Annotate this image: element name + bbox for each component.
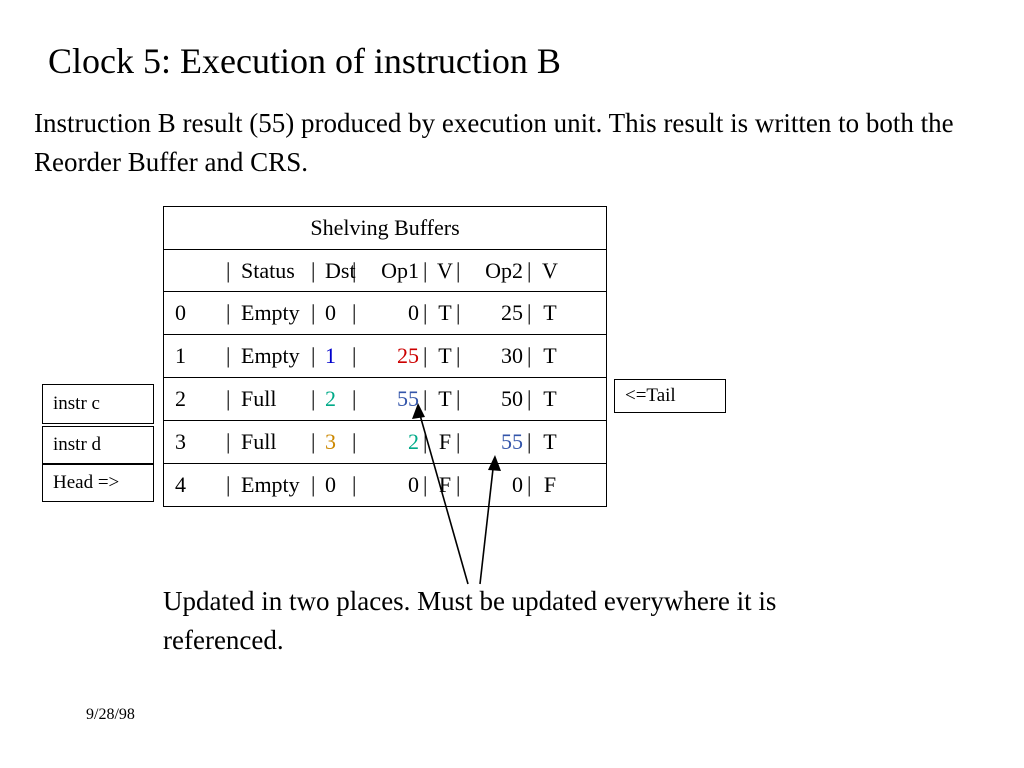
table-row: 2 | Full | 2 | 55 | T | 50 | T bbox=[164, 378, 607, 421]
row-v1: T bbox=[434, 343, 456, 369]
row-bar-2: | bbox=[352, 343, 363, 369]
row-status: Empty bbox=[237, 300, 311, 326]
row-v1: F bbox=[434, 429, 456, 455]
header-bar-4: | bbox=[456, 258, 467, 284]
page-title: Clock 5: Execution of instruction B bbox=[48, 42, 561, 82]
header-bar-1: | bbox=[311, 258, 322, 284]
row-bar-4: | bbox=[456, 300, 467, 326]
row-index: 3 bbox=[164, 429, 226, 455]
row-op1: 0 bbox=[363, 472, 423, 498]
row-bar-5: | bbox=[527, 343, 538, 369]
row-bar-4: | bbox=[456, 472, 467, 498]
row-bar-0: | bbox=[226, 343, 237, 369]
row-bar-3: | bbox=[423, 429, 434, 455]
table-row: 3 | Full | 3 | 2 | F | 55 | T bbox=[164, 421, 607, 464]
row-bar-2: | bbox=[352, 386, 363, 412]
row-op2: 25 bbox=[467, 300, 527, 326]
header-v2: V bbox=[538, 258, 562, 284]
table-row: 0 | Empty | 0 | 0 | T | 25 | T bbox=[164, 292, 607, 335]
instr-c-box: instr c bbox=[42, 384, 154, 424]
header-bar-0: | bbox=[226, 258, 237, 284]
row-bar-2: | bbox=[352, 300, 363, 326]
subtitle-text: Instruction B result (55) produced by ex… bbox=[34, 104, 964, 182]
instr-d-box: instr d bbox=[42, 426, 154, 464]
row-dst: 0 bbox=[322, 300, 352, 326]
header-dst: Dst bbox=[322, 258, 352, 284]
row-dst: 2 bbox=[322, 386, 352, 412]
row-bar-0: | bbox=[226, 300, 237, 326]
slide-root: Clock 5: Execution of instruction B Inst… bbox=[0, 0, 1024, 768]
row-status: Full bbox=[237, 429, 311, 455]
row-op1: 2 bbox=[363, 429, 423, 455]
row-bar-3: | bbox=[423, 472, 434, 498]
row-bar-1: | bbox=[311, 343, 322, 369]
row-bar-2: | bbox=[352, 429, 363, 455]
table-header-row: | Status | Dst | Op1 | V | Op2 | V bbox=[164, 250, 607, 292]
row-v2: T bbox=[538, 300, 562, 326]
row-bar-5: | bbox=[527, 386, 538, 412]
row-bar-0: | bbox=[226, 386, 237, 412]
row-bar-0: | bbox=[226, 429, 237, 455]
row-bar-5: | bbox=[527, 300, 538, 326]
header-status: Status bbox=[237, 258, 311, 284]
shelving-buffers-table: Shelving Buffers | Status | Dst | Op1 | … bbox=[163, 206, 607, 507]
table-row: 1 | Empty | 1 | 25 | T | 30 | T bbox=[164, 335, 607, 378]
row-bar-3: | bbox=[423, 386, 434, 412]
table-caption: Shelving Buffers bbox=[164, 207, 607, 250]
row-index: 1 bbox=[164, 343, 226, 369]
row-op1: 25 bbox=[363, 343, 423, 369]
row-bar-0: | bbox=[226, 472, 237, 498]
row-bar-4: | bbox=[456, 429, 467, 455]
row-v2: T bbox=[538, 429, 562, 455]
row-bar-3: | bbox=[423, 300, 434, 326]
header-bar-2: | bbox=[352, 258, 363, 284]
row-op2: 50 bbox=[467, 386, 527, 412]
row-bar-1: | bbox=[311, 472, 322, 498]
row-dst: 1 bbox=[322, 343, 352, 369]
row-index: 4 bbox=[164, 472, 226, 498]
row-bar-3: | bbox=[423, 343, 434, 369]
row-v1: F bbox=[434, 472, 456, 498]
row-op2: 55 bbox=[467, 429, 527, 455]
row-v2: F bbox=[538, 472, 562, 498]
row-status: Full bbox=[237, 386, 311, 412]
row-bar-1: | bbox=[311, 429, 322, 455]
row-bar-5: | bbox=[527, 429, 538, 455]
row-bar-1: | bbox=[311, 386, 322, 412]
head-pointer-box: Head => bbox=[42, 464, 154, 502]
footnote-text: Updated in two places. Must be updated e… bbox=[163, 582, 783, 660]
row-bar-1: | bbox=[311, 300, 322, 326]
tail-pointer-box: <=Tail bbox=[614, 379, 726, 413]
table-row: 4 | Empty | 0 | 0 | F | 0 | F bbox=[164, 464, 607, 507]
header-op2: Op2 bbox=[467, 258, 527, 284]
row-op2: 0 bbox=[467, 472, 527, 498]
row-v2: T bbox=[538, 386, 562, 412]
row-v1: T bbox=[434, 386, 456, 412]
row-index: 0 bbox=[164, 300, 226, 326]
row-v2: T bbox=[538, 343, 562, 369]
row-op2: 30 bbox=[467, 343, 527, 369]
table-caption-row: Shelving Buffers bbox=[164, 207, 607, 250]
header-bar-3: | bbox=[423, 258, 434, 284]
row-op1: 0 bbox=[363, 300, 423, 326]
row-bar-2: | bbox=[352, 472, 363, 498]
header-op1: Op1 bbox=[363, 258, 423, 284]
row-dst: 0 bbox=[322, 472, 352, 498]
header-bar-5: | bbox=[527, 258, 538, 284]
slide-date: 9/28/98 bbox=[86, 706, 135, 724]
row-bar-4: | bbox=[456, 386, 467, 412]
header-v1: V bbox=[434, 258, 456, 284]
row-bar-4: | bbox=[456, 343, 467, 369]
row-index: 2 bbox=[164, 386, 226, 412]
row-bar-5: | bbox=[527, 472, 538, 498]
row-dst: 3 bbox=[322, 429, 352, 455]
row-status: Empty bbox=[237, 472, 311, 498]
row-status: Empty bbox=[237, 343, 311, 369]
row-op1: 55 bbox=[363, 386, 423, 412]
row-v1: T bbox=[434, 300, 456, 326]
